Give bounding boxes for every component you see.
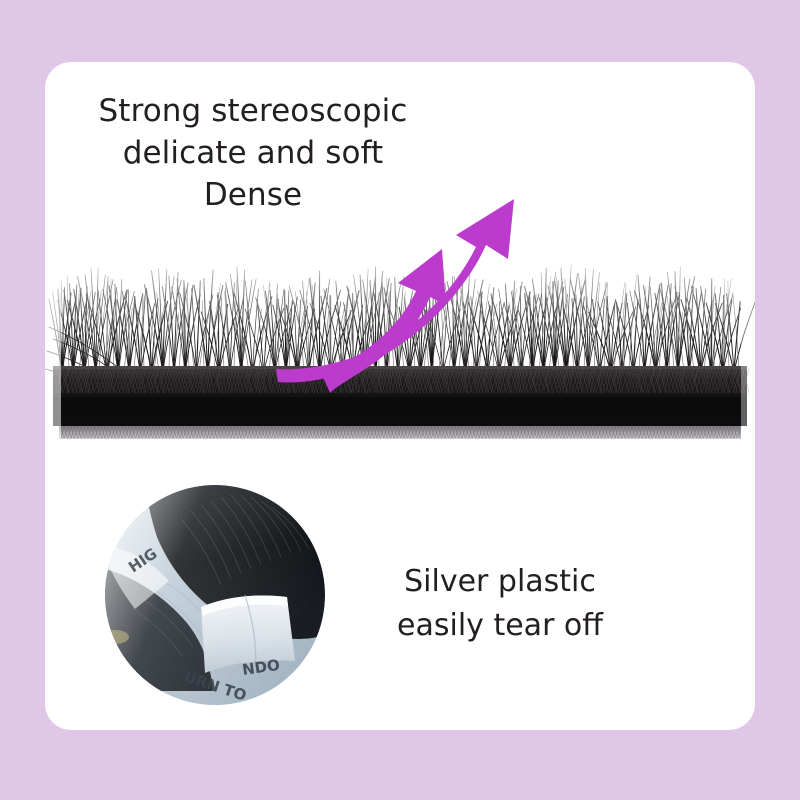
headline-text-block: Strong stereoscopic delicate and soft De…	[53, 90, 453, 216]
caption-line-2: easily tear off	[375, 604, 625, 648]
headline-line-1: Strong stereoscopic	[53, 90, 453, 132]
headline-line-2: delicate and soft	[53, 132, 453, 174]
caption-text-block: Silver plastic easily tear off	[375, 560, 625, 648]
lash-strip-photo	[45, 247, 755, 447]
product-infographic: Strong stereoscopic delicate and soft De…	[0, 0, 800, 800]
packaging-closeup-photo: HIG URN TO NDO	[105, 485, 325, 705]
headline-line-3: Dense	[53, 174, 453, 216]
white-content-card: Strong stereoscopic delicate and soft De…	[45, 62, 755, 730]
caption-line-1: Silver plastic	[375, 560, 625, 604]
